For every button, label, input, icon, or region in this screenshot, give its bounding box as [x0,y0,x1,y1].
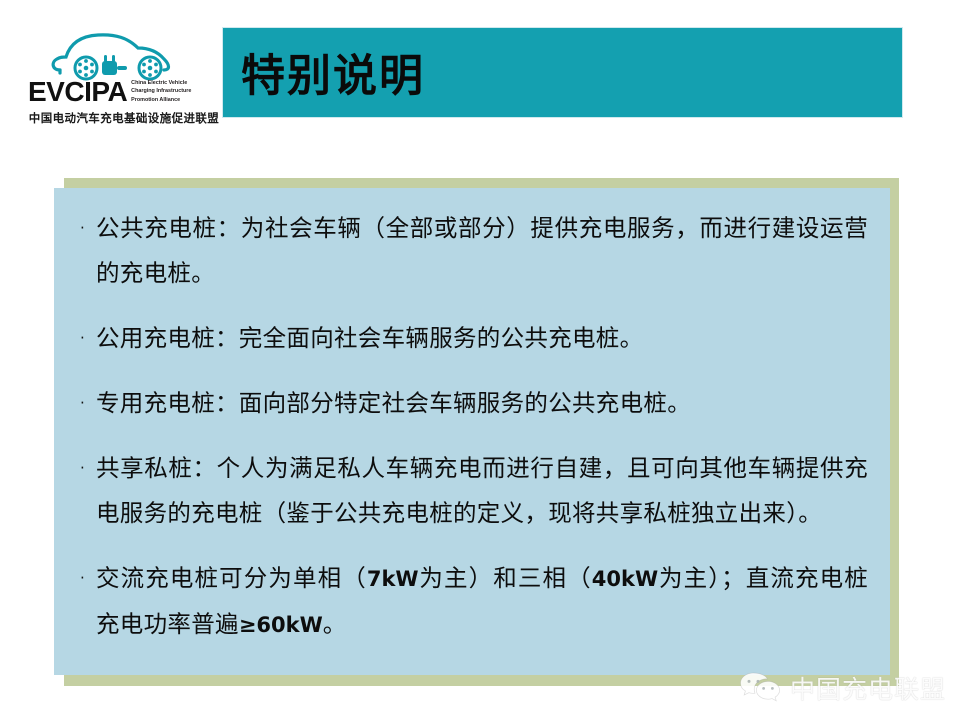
logo-chinese-name: 中国电动汽车充电基础设施促进联盟 [28,110,220,126]
slide-canvas: EVCIPA China Electric VehicleCharging In… [0,0,960,720]
list-item-text: 共享私桩：个人为满足私人车辆充电而进行自建，且可向其他车辆提供充电服务的充电桩（… [96,446,868,536]
logo-english-subtitle: China Electric VehicleCharging Infrastru… [131,79,191,106]
list-item: · 专用充电桩：面向部分特定社会车辆服务的公共充电桩。 [76,381,868,426]
power-value: ≥60kW [239,613,323,637]
bullet-marker: · [76,446,96,491]
list-item: · 公共充电桩：为社会车辆（全部或部分）提供充电服务，而进行建设运营的充电桩。 [76,206,868,296]
ev-car-charging-plug-icon [46,26,186,82]
page-title: 特别说明 [241,39,425,103]
power-value: 40kW [592,567,658,591]
watermark-label: 中国充电联盟 [790,670,946,706]
evcipa-logo: EVCIPA China Electric VehicleCharging In… [28,26,220,126]
wechat-watermark: 中国充电联盟 [739,670,946,706]
logo-wordmark-row: EVCIPA China Electric VehicleCharging In… [28,80,220,106]
list-item-text: 专用充电桩：面向部分特定社会车辆服务的公共充电桩。 [96,381,868,426]
bullet-marker: · [76,556,96,601]
logo-wordmark: EVCIPA [28,78,127,106]
power-value: 7kW [367,567,419,591]
list-item-text: 交流充电桩可分为单相（7kW为主）和三相（40kW为主）；直流充电桩充电功率普遍… [96,556,868,648]
list-item-text: 公用充电桩：完全面向社会车辆服务的公共充电桩。 [96,316,868,361]
bullet-marker: · [76,316,96,361]
slide-title-bar: 特别说明 [222,27,903,118]
list-item: · 交流充电桩可分为单相（7kW为主）和三相（40kW为主）；直流充电桩充电功率… [76,556,868,648]
list-item: · 共享私桩：个人为满足私人车辆充电而进行自建，且可向其他车辆提供充电服务的充电… [76,446,868,536]
bullet-marker: · [76,381,96,426]
bullet-marker: · [76,206,96,251]
content-card: · 公共充电桩：为社会车辆（全部或部分）提供充电服务，而进行建设运营的充电桩。 … [54,188,890,675]
wechat-icon [739,671,781,705]
list-item-text: 公共充电桩：为社会车辆（全部或部分）提供充电服务，而进行建设运营的充电桩。 [96,206,868,296]
list-item: · 公用充电桩：完全面向社会车辆服务的公共充电桩。 [76,316,868,361]
